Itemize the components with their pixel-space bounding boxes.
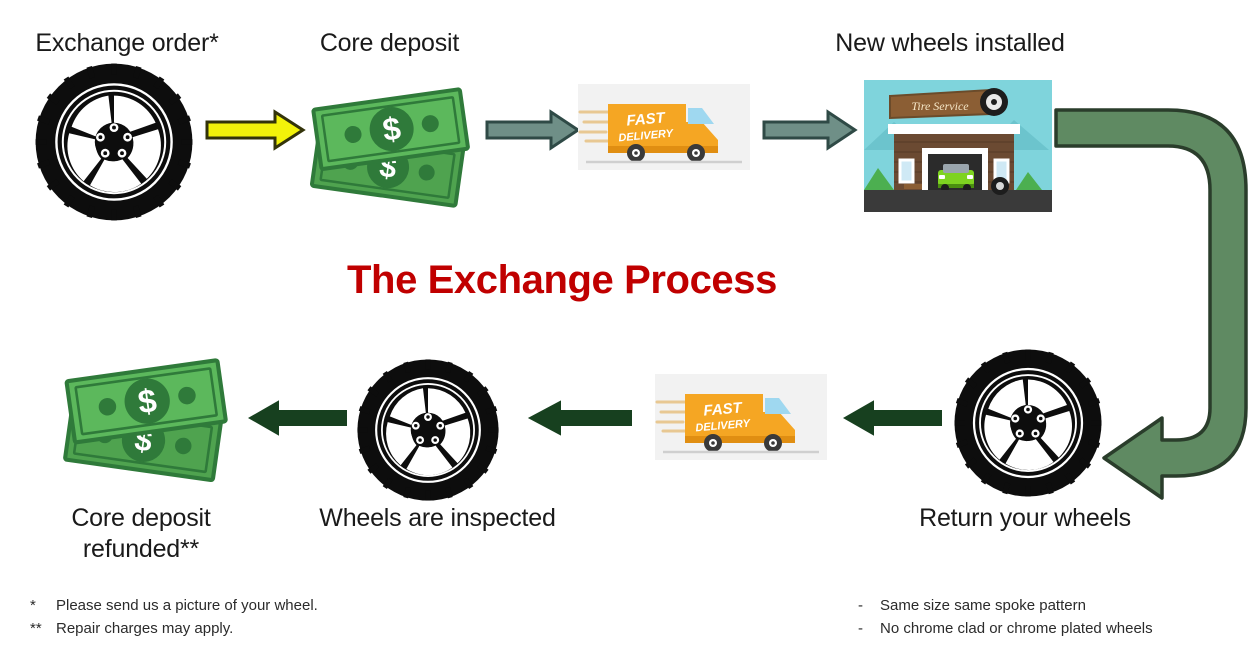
note-text: Same size same spoke pattern xyxy=(880,594,1086,617)
truck-label-fast: FAST xyxy=(703,399,745,419)
note-mark: - xyxy=(858,594,880,617)
note-left-1: * Please send us a picture of your wheel… xyxy=(30,594,318,617)
arrow-order-to-deposit xyxy=(205,110,305,150)
arrow-shape xyxy=(530,402,631,434)
garage-window-left xyxy=(900,160,913,182)
label-core-deposit-refunded: Core deposit refunded** xyxy=(36,503,246,564)
delivery-truck-graphic-outbound: FAST DELIVERY xyxy=(578,84,750,170)
notes-left: * Please send us a picture of your wheel… xyxy=(30,594,318,641)
green-car xyxy=(938,164,974,192)
label-exchange-order: Exchange order* xyxy=(22,28,232,59)
garage-crate xyxy=(904,184,922,189)
money-graphic-refund: $ $ xyxy=(58,352,233,477)
money-graphic-deposit: $ $ xyxy=(305,82,475,202)
wheel-svg xyxy=(953,348,1103,498)
refund-label-line1: Core deposit xyxy=(71,504,210,532)
arrow-shipping-to-inspect xyxy=(528,400,633,436)
garage-ground xyxy=(864,190,1052,212)
refund-label-line2: refunded** xyxy=(83,535,199,563)
label-new-wheels-installed: New wheels installed xyxy=(795,28,1105,59)
truck-svg: FAST DELIVERY xyxy=(578,84,750,170)
wheel-svg xyxy=(34,62,194,222)
label-return-your-wheels: Return your wheels xyxy=(905,503,1145,534)
truck-svg: FAST DELIVERY xyxy=(655,372,827,462)
wheel-graphic-return xyxy=(953,348,1103,498)
arrow-shape xyxy=(250,402,346,434)
notes-right: - Same size same spoke pattern - No chro… xyxy=(858,594,1153,641)
money-svg: $ $ xyxy=(305,82,475,202)
arrow-shape xyxy=(207,112,303,148)
tire-service-garage-graphic: Tire Service xyxy=(864,80,1052,212)
spare-tire-outside xyxy=(991,177,1009,195)
note-text: Please send us a picture of your wheel. xyxy=(56,594,318,617)
wheel-svg xyxy=(356,358,500,502)
arrow-deposit-to-shipping xyxy=(485,110,580,150)
wheel-graphic-new xyxy=(34,62,194,222)
label-core-deposit: Core deposit xyxy=(297,28,482,59)
truck-label-fast: FAST xyxy=(626,109,668,129)
note-mark: ** xyxy=(30,617,56,640)
delivery-truck-graphic-return: FAST DELIVERY xyxy=(655,372,827,462)
infographic-canvas: Exchange order* Core deposit New wheels … xyxy=(0,0,1250,666)
page-title: The Exchange Process xyxy=(347,258,777,303)
arrow-return-to-shipping xyxy=(843,400,943,436)
note-left-2: ** Repair charges may apply. xyxy=(30,617,318,640)
money-svg: $ $ xyxy=(58,352,233,477)
note-mark: - xyxy=(858,617,880,640)
arrow-inspect-to-refund xyxy=(248,400,348,436)
arrow-shape xyxy=(764,112,855,148)
note-text: Repair charges may apply. xyxy=(56,617,233,640)
arrow-shape xyxy=(845,402,941,434)
garage-sign-text: Tire Service xyxy=(911,99,969,113)
garage-svg: Tire Service xyxy=(864,80,1052,212)
label-wheels-inspected: Wheels are inspected xyxy=(305,503,570,534)
note-right-1: - Same size same spoke pattern xyxy=(858,594,1153,617)
note-mark: * xyxy=(30,594,56,617)
note-text: No chrome clad or chrome plated wheels xyxy=(880,617,1153,640)
wheel-graphic-inspected xyxy=(356,358,500,502)
arrow-shipping-to-install xyxy=(762,110,857,150)
note-right-2: - No chrome clad or chrome plated wheels xyxy=(858,617,1153,640)
arrow-shape xyxy=(487,112,578,148)
